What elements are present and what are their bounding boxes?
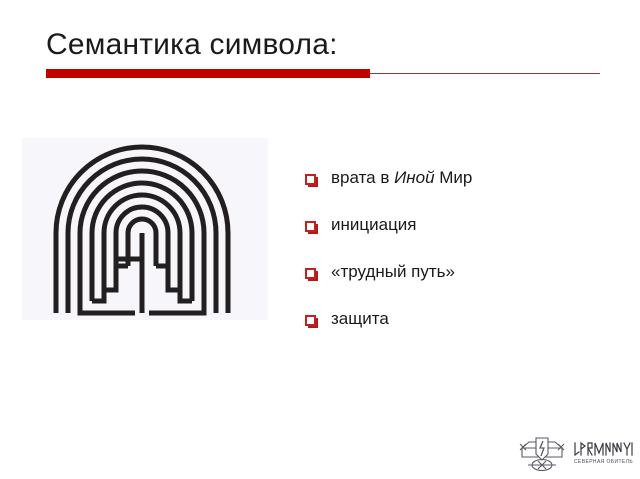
list-item-label: защита (331, 309, 389, 329)
square-bullet-icon (305, 221, 318, 234)
square-bullet-icon (305, 268, 318, 281)
list-item-label: инициация (331, 215, 417, 235)
list-item-emphasis: Иной (394, 168, 434, 187)
square-bullet-icon (305, 174, 318, 187)
runic-wordmark-icon (573, 440, 635, 458)
square-bullet-icon (305, 315, 318, 328)
northern-abode-emblem-icon (516, 432, 568, 474)
list-item: защита (305, 309, 625, 356)
list-item-label: врата в Иной Мир (331, 168, 472, 188)
list-item: инициация (305, 215, 625, 262)
logo-wordmark: Северная Обитель (571, 440, 636, 466)
labyrinth-icon (22, 138, 268, 320)
title-block: Семантика символа: (0, 0, 640, 90)
list-item-suffix: Мир (435, 168, 473, 187)
list-item: врата в Иной Мир (305, 168, 625, 215)
logo-caption: Северная Обитель (574, 459, 633, 466)
labyrinth-image (22, 138, 268, 320)
title-divider-accent (46, 69, 370, 78)
list-item: «трудный путь» (305, 262, 625, 309)
slide: Семантика символа: (0, 0, 640, 479)
list-item-label: «трудный путь» (331, 262, 455, 282)
footer-logo: Северная Обитель (516, 431, 636, 475)
semantics-bullet-list: врата в Иной Мир инициация «трудный путь… (305, 168, 625, 356)
list-item-prefix: врата в (331, 168, 394, 187)
page-title: Семантика символа: (46, 27, 338, 63)
